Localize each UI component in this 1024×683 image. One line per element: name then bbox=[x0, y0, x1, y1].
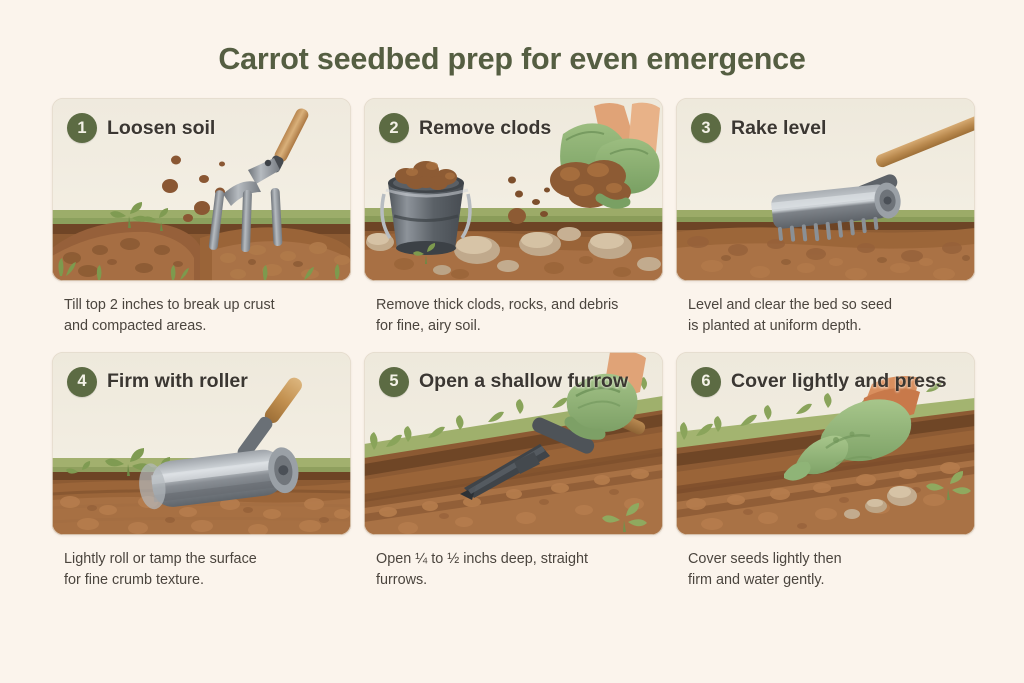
caption-line-1: Remove thick clods, rocks, and debris bbox=[376, 295, 654, 316]
step-2-illustration: 2 Remove clods bbox=[364, 98, 663, 281]
caption-line-2: and compacted areas. bbox=[64, 316, 342, 337]
step-1-caption: Till top 2 inches to break up crust and … bbox=[52, 295, 342, 337]
step-card-2[interactable]: 2 Remove clods Remove thick clods, rocks… bbox=[364, 98, 663, 337]
steps-row-2: 4 Firm with roller Lightly roll or tamp … bbox=[52, 352, 977, 591]
caption-line-2: for fine, airy soil. bbox=[376, 316, 654, 337]
step-card-5[interactable]: 5 Open a shallow furrow Open ¼ to ½ inch… bbox=[364, 352, 663, 591]
caption-line-2: furrows. bbox=[376, 570, 654, 591]
step-5-illustration: 5 Open a shallow furrow bbox=[364, 352, 663, 535]
step-2-caption: Remove thick clods, rocks, and debris fo… bbox=[364, 295, 654, 337]
step-4-illustration: 4 Firm with roller bbox=[52, 352, 351, 535]
step-3-illustration: 3 Rake level bbox=[676, 98, 975, 281]
steps-grid: 1 Loosen soil Till top 2 inches to break… bbox=[52, 98, 977, 591]
caption-line-1: Lightly roll or tamp the surface bbox=[64, 549, 342, 570]
caption-line-1: Level and clear the bed so seed bbox=[688, 295, 966, 316]
steps-row-1: 1 Loosen soil Till top 2 inches to break… bbox=[52, 98, 977, 337]
step-card-3[interactable]: 3 Rake level Level and clear the bed so … bbox=[676, 98, 975, 337]
step-4-caption: Lightly roll or tamp the surface for fin… bbox=[52, 549, 342, 591]
page-title: Carrot seedbed prep for even emergence bbox=[0, 42, 1024, 77]
step-6-caption: Cover seeds lightly then firm and water … bbox=[676, 549, 966, 591]
step-6-illustration: 6 Cover lightly and press bbox=[676, 352, 975, 535]
infographic-page: Carrot seedbed prep for even emergence bbox=[0, 0, 1024, 683]
step-card-6[interactable]: 6 Cover lightly and press Cover seeds li… bbox=[676, 352, 975, 591]
caption-line-2: firm and water gently. bbox=[688, 570, 966, 591]
caption-line-1: Open ¼ to ½ inchs deep, straight bbox=[376, 549, 654, 570]
caption-line-1: Till top 2 inches to break up crust bbox=[64, 295, 342, 316]
caption-line-2: for fine crumb texture. bbox=[64, 570, 342, 591]
step-card-4[interactable]: 4 Firm with roller Lightly roll or tamp … bbox=[52, 352, 351, 591]
step-1-illustration: 1 Loosen soil bbox=[52, 98, 351, 281]
step-3-caption: Level and clear the bed so seed is plant… bbox=[676, 295, 966, 337]
step-5-caption: Open ¼ to ½ inchs deep, straight furrows… bbox=[364, 549, 654, 591]
caption-line-1: Cover seeds lightly then bbox=[688, 549, 966, 570]
step-card-1[interactable]: 1 Loosen soil Till top 2 inches to break… bbox=[52, 98, 351, 337]
caption-line-2: is planted at uniform depth. bbox=[688, 316, 966, 337]
